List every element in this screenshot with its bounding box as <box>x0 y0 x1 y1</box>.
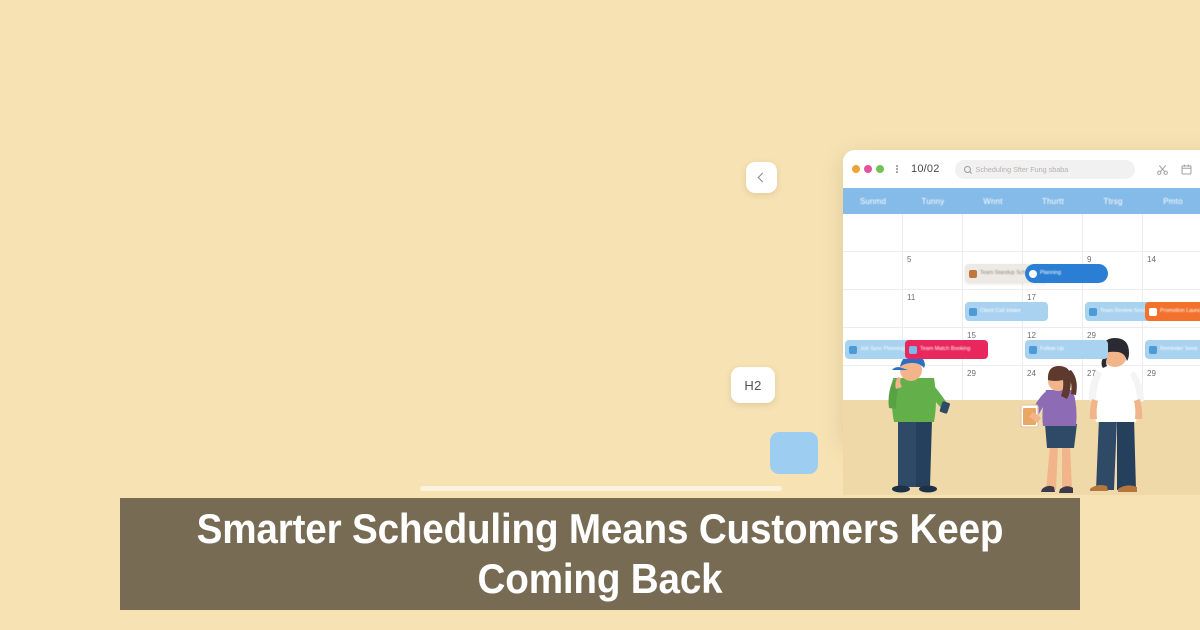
calendar-day-cell[interactable]: Client Call Intake <box>963 290 1023 328</box>
calendar-event-chip[interactable]: Planning <box>1025 264 1108 283</box>
day-number: 29 <box>1087 331 1142 340</box>
weekday-header-5: Pmto <box>1143 188 1200 214</box>
weekday-header-row: SunmdTunnyWnntThurttTtrsgPmtoTatv <box>843 188 1200 214</box>
calendar-day-cell[interactable] <box>1083 214 1143 252</box>
calendar-day-cell[interactable]: 5 <box>903 252 963 290</box>
window-title-bar: 10/02 Scheduling Sfter Fung sbaba <box>843 150 1200 188</box>
window-traffic-lights[interactable] <box>852 165 884 173</box>
event-type-icon <box>909 346 917 354</box>
scissors-icon[interactable] <box>1156 163 1169 176</box>
search-input[interactable]: Scheduling Sfter Fung sbaba <box>955 160 1135 179</box>
previous-month-button[interactable] <box>746 162 777 193</box>
toolbar-icons <box>1156 163 1200 176</box>
weekday-header-3: Thurtt <box>1023 188 1083 214</box>
search-placeholder-text: Scheduling Sfter Fung sbaba <box>976 165 1069 174</box>
event-type-icon <box>849 346 857 354</box>
calendar-event-chip[interactable]: Team Match Booking <box>905 340 988 359</box>
calendar-icon[interactable] <box>1180 163 1193 176</box>
calendar-month-grid[interactable]: 5Team Standup SchedulingPlanning9141311C… <box>843 214 1200 404</box>
calendar-day-cell[interactable]: 29 <box>1143 366 1200 404</box>
day-number: 29 <box>1147 369 1200 378</box>
event-type-icon <box>1029 346 1037 354</box>
calendar-day-cell[interactable]: Team Match Booking <box>903 328 963 366</box>
heading-level-chip[interactable]: H2 <box>731 367 775 403</box>
calendar-event-chip[interactable]: Client Call Intake <box>965 302 1048 321</box>
blue-accent-square <box>770 432 818 474</box>
calendar-day-cell[interactable] <box>843 290 903 328</box>
event-type-icon <box>1029 270 1037 278</box>
overflow-menu-icon[interactable] <box>892 162 902 176</box>
event-label: Reminder Send <box>1160 346 1197 353</box>
day-number: 23 <box>907 369 962 378</box>
calendar-day-cell[interactable]: Job Sync Planning <box>843 328 903 366</box>
calendar-day-cell[interactable] <box>843 366 903 404</box>
search-icon <box>964 166 971 173</box>
day-number: 15 <box>967 331 1022 340</box>
banner-canvas: H2 10/02 Scheduling Sfter Fung sbaba <box>0 0 1200 630</box>
calendar-app-window: 10/02 Scheduling Sfter Fung sbaba <box>843 150 1200 442</box>
event-label: Job Sync Planning <box>860 346 905 353</box>
day-number: 11 <box>907 293 962 302</box>
event-label: Follow Up <box>1040 346 1064 353</box>
current-date-label: 10/02 <box>911 163 940 175</box>
weekday-header-0: Sunmd <box>843 188 903 214</box>
calendar-day-cell[interactable] <box>843 214 903 252</box>
calendar-day-cell[interactable]: Promotion Launch <box>1143 290 1200 328</box>
calendar-event-chip[interactable]: Promotion Launch <box>1145 302 1200 321</box>
day-number: 24 <box>1027 369 1082 378</box>
event-type-icon <box>1149 346 1157 354</box>
day-number: 14 <box>1147 255 1200 264</box>
day-number: 27 <box>1087 369 1142 378</box>
calendar-day-cell[interactable] <box>1143 214 1200 252</box>
event-type-icon <box>1089 308 1097 316</box>
calendar-day-cell[interactable]: Planning <box>1023 252 1083 290</box>
event-label: Team Match Booking <box>920 346 970 353</box>
chevron-left-icon <box>758 173 768 183</box>
calendar-day-cell[interactable]: Team Standup Scheduling <box>963 252 1023 290</box>
day-number: 29 <box>967 369 1022 378</box>
calendar-day-cell[interactable]: 29 <box>963 366 1023 404</box>
weekday-header-2: Wnnt <box>963 188 1023 214</box>
event-label: Client Call Intake <box>980 308 1021 315</box>
calendar-day-cell[interactable]: 11 <box>903 290 963 328</box>
day-number: 5 <box>907 255 962 264</box>
calendar-day-cell[interactable] <box>1023 214 1083 252</box>
close-light-icon[interactable] <box>852 165 860 173</box>
calendar-day-cell[interactable]: 14 <box>1143 252 1200 290</box>
calendar-day-cell[interactable]: 12Follow Up <box>1023 328 1083 366</box>
title-banner: Smarter Scheduling Means Customers Keep … <box>120 498 1080 610</box>
minimize-light-icon[interactable] <box>864 165 872 173</box>
event-type-icon <box>1149 308 1157 316</box>
day-number: 12 <box>1027 331 1082 340</box>
event-type-icon <box>969 308 977 316</box>
day-number: 17 <box>1027 293 1082 302</box>
calendar-day-cell[interactable] <box>963 214 1023 252</box>
weekday-header-4: Ttrsg <box>1083 188 1143 214</box>
calendar-day-cell[interactable]: 23 <box>903 366 963 404</box>
calendar-event-chip[interactable]: Reminder Send <box>1145 340 1200 359</box>
event-type-icon <box>969 270 977 278</box>
calendar-day-cell[interactable]: 27 <box>1083 366 1143 404</box>
page-title: Smarter Scheduling Means Customers Keep … <box>175 504 1025 603</box>
day-number: 9 <box>1087 255 1142 264</box>
maximize-light-icon[interactable] <box>876 165 884 173</box>
title-divider <box>420 486 782 491</box>
calendar-day-cell[interactable] <box>843 252 903 290</box>
event-label: Planning <box>1040 270 1061 277</box>
calendar-event-chip[interactable]: Follow Up <box>1025 340 1108 359</box>
calendar-day-cell[interactable] <box>903 214 963 252</box>
calendar-day-cell[interactable]: Team Review Session <box>1083 290 1143 328</box>
weekday-header-1: Tunny <box>903 188 963 214</box>
calendar-day-cell[interactable]: 24 <box>1023 366 1083 404</box>
event-label: Promotion Launch <box>1160 308 1200 315</box>
calendar-day-cell[interactable]: Reminder Send <box>1143 328 1200 366</box>
